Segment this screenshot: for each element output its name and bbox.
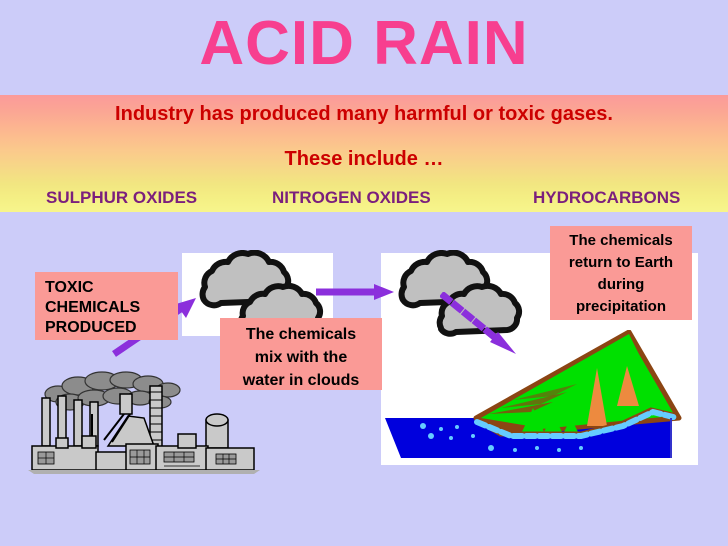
callout-return-line-1: The chemicals xyxy=(554,230,688,252)
callout-toxic-line-2: CHEMICALS xyxy=(45,298,178,318)
callout-return-line-4: precipitation xyxy=(554,296,688,318)
header-line-2: These include … xyxy=(0,148,728,171)
callout-chemicals-return: The chemicals return to Earth during pre… xyxy=(550,226,692,320)
page-title: ACID RAIN xyxy=(0,2,728,86)
acid-rain-slide: ACID RAIN Industry has produced many har… xyxy=(0,0,728,546)
gas-label-hydrocarbons: HYDROCARBONS xyxy=(533,188,680,208)
callout-toxic-chemicals: TOXIC CHEMICALS PRODUCED xyxy=(35,272,178,340)
gas-label-sulphur-oxides: SULPHUR OXIDES xyxy=(46,188,197,208)
callout-mix-line-1: The chemicals xyxy=(224,323,378,346)
callout-return-line-3: during xyxy=(554,274,688,296)
header-line-1: Industry has produced many harmful or to… xyxy=(0,103,728,126)
callout-toxic-line-1: TOXIC xyxy=(45,278,178,298)
callout-chemicals-mix: The chemicals mix with the water in clou… xyxy=(220,318,382,390)
callout-toxic-line-3: PRODUCED xyxy=(45,318,178,338)
gas-label-nitrogen-oxides: NITROGEN OXIDES xyxy=(272,188,431,208)
callout-mix-line-3: water in clouds xyxy=(224,369,378,392)
callout-return-line-2: return to Earth xyxy=(554,252,688,274)
callout-mix-line-2: mix with the xyxy=(224,346,378,369)
